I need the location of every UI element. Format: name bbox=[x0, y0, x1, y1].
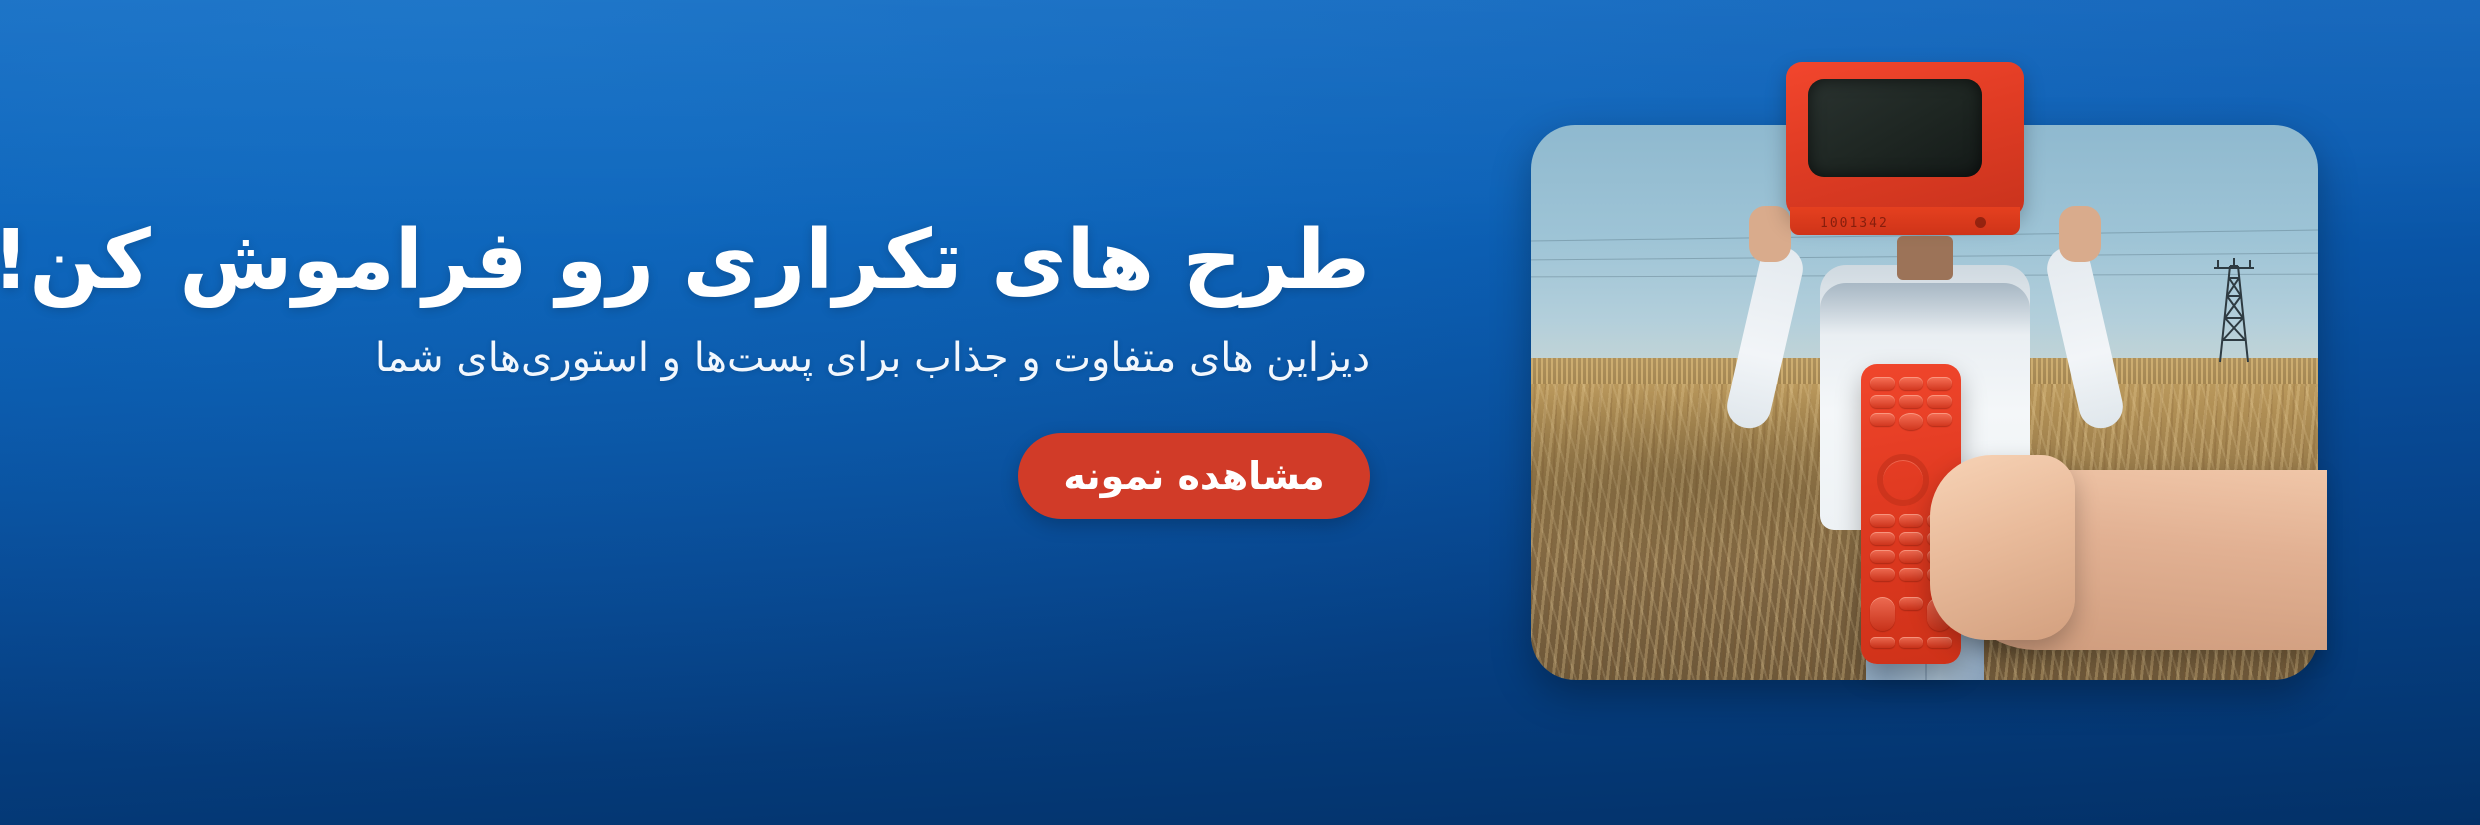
remote-button bbox=[1899, 532, 1924, 545]
remote-button bbox=[1870, 637, 1895, 648]
remote-button bbox=[1927, 637, 1952, 648]
remote-button bbox=[1870, 568, 1895, 581]
remote-channel-rocker bbox=[1870, 597, 1895, 631]
banner-copy: طرح های تکراری رو فراموش کن! دیزاین های … bbox=[190, 218, 1370, 519]
neck bbox=[1897, 236, 1953, 280]
remote-button bbox=[1899, 637, 1924, 648]
remote-button bbox=[1927, 395, 1952, 408]
tv-screen bbox=[1808, 79, 1982, 177]
page-title: طرح های تکراری رو فراموش کن! bbox=[190, 218, 1370, 305]
remote-power-button bbox=[1899, 413, 1924, 430]
remote-button bbox=[1899, 377, 1924, 390]
remote-button bbox=[1870, 550, 1895, 563]
banner-subtitle: دیزاین های متفاوت و جذاب برای پست‌ها و ا… bbox=[190, 331, 1370, 385]
remote-button bbox=[1870, 377, 1895, 390]
remote-button-group-top bbox=[1870, 377, 1952, 430]
remote-button-group-bottom bbox=[1870, 637, 1952, 648]
retro-television-icon: 1001342 bbox=[1786, 62, 2024, 217]
remote-button bbox=[1899, 395, 1924, 408]
remote-button bbox=[1870, 532, 1895, 545]
remote-button bbox=[1899, 597, 1924, 610]
remote-dpad bbox=[1877, 454, 1929, 506]
hand-right bbox=[2059, 206, 2101, 262]
tv-body bbox=[1786, 62, 2024, 217]
promo-banner: طرح های تکراری رو فراموش کن! دیزاین های … bbox=[0, 0, 2480, 825]
tv-knob bbox=[1975, 217, 1986, 228]
remote-button bbox=[1870, 413, 1895, 426]
hand-left bbox=[1749, 206, 1791, 262]
electricity-pylon-icon bbox=[2206, 244, 2262, 364]
remote-button bbox=[1927, 377, 1952, 390]
tv-brand-label: 1001342 bbox=[1820, 216, 1889, 231]
cta-container: مشاهده نمونه bbox=[190, 433, 1370, 519]
remote-button bbox=[1899, 568, 1924, 581]
foreground-fist bbox=[1930, 455, 2075, 640]
raised-arm-left bbox=[1722, 242, 1806, 432]
view-sample-button[interactable]: مشاهده نمونه bbox=[1018, 433, 1370, 519]
remote-button bbox=[1870, 514, 1895, 527]
remote-button bbox=[1927, 413, 1952, 426]
raised-arm-right bbox=[2042, 242, 2126, 432]
remote-button bbox=[1899, 514, 1924, 527]
remote-button bbox=[1899, 550, 1924, 563]
remote-button bbox=[1870, 395, 1895, 408]
